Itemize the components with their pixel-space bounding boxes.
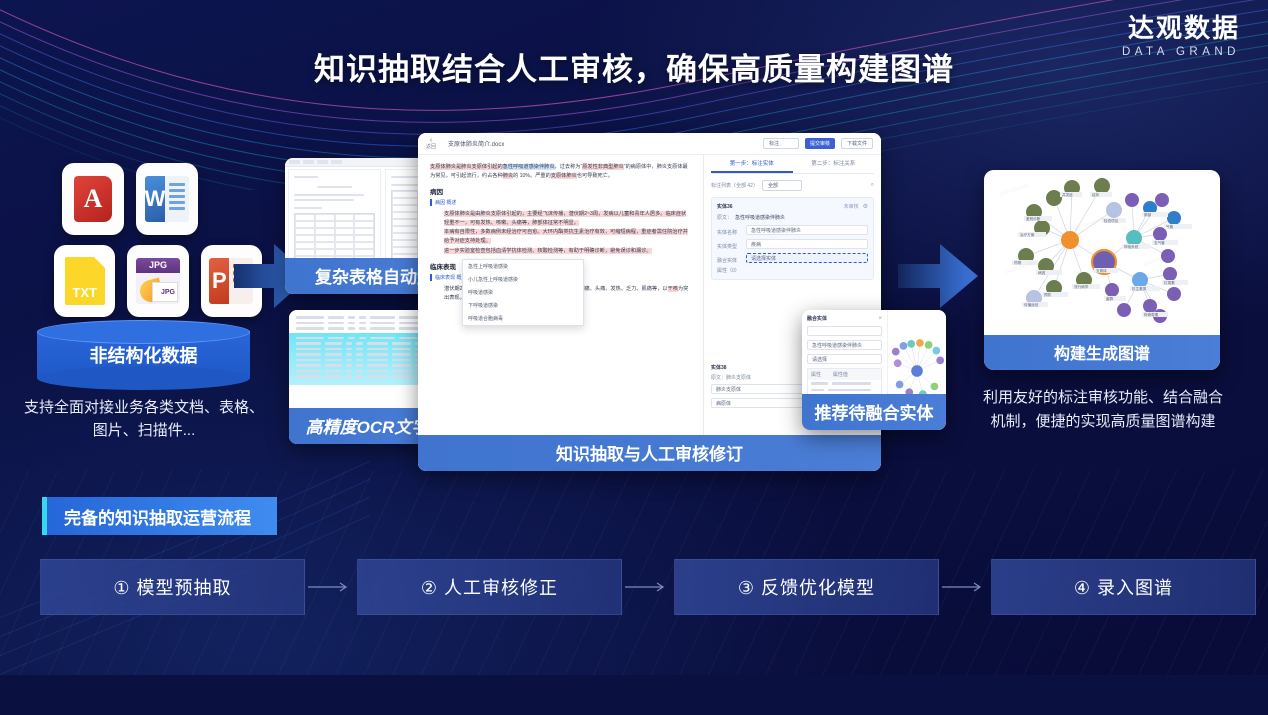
entity-card-status: 未审核 (844, 203, 859, 210)
brand-name-cn: 达观数据 (1122, 14, 1240, 43)
step-arrow-2 (622, 581, 674, 593)
flow-arrow-right (898, 236, 980, 316)
entity-type-select[interactable]: 疾病 (746, 239, 868, 249)
pdf-file-icon: A (62, 163, 124, 235)
doc-paragraph-2: 支原体肺炎是由肺炎支原体引起的，主要经飞沫传播，潜伏期2~3周，发病以儿童和青年… (430, 210, 691, 228)
jpg-file-icon: JPG JPG (127, 245, 188, 317)
merge-entity-select[interactable]: 请选择实体 (746, 253, 868, 263)
pdf-glyph: A (74, 176, 112, 222)
tab-annotate-entity[interactable]: 第一步：标注实体 (711, 155, 793, 173)
svg-text:抗生素类: 抗生素类 (1132, 286, 1147, 291)
merge-field-3[interactable]: 请选择 (807, 354, 882, 364)
close-icon[interactable]: × (878, 316, 882, 322)
process-steps: ① 模型预抽取 ② 人工审核修正 ③ 反馈优化模型 ④ 录入图谱 (40, 559, 1230, 615)
cylinder-top (37, 320, 250, 344)
entity-card[interactable]: 实体36 未审核 ⚙ 原文： 急性呼吸道感染伴肺炎 实体名称 急性呼吸道感染伴肺… (711, 197, 874, 280)
merge-entity-card[interactable]: 融合实体 × 急性呼吸道感染伴肺炎 请选择 属性 属性值 1 › (802, 310, 946, 430)
txt-glyph: TXT (65, 257, 105, 305)
svg-text:并发症: 并发症 (1062, 192, 1073, 197)
doc-header: ‹ 返回 支原体肺炎简介.docx 标注 提交审核 下载文件 (418, 133, 881, 155)
merge-entity-label: 融合实体 (717, 257, 743, 264)
svg-text:传播途径: 传播途径 (1024, 302, 1039, 307)
merge-dialog-title: 融合实体 (807, 315, 827, 322)
dropdown-option[interactable]: 呼吸道合胞病毒 (463, 312, 583, 325)
entity-attributes-label: 属性（0） (717, 267, 740, 274)
file-icon-row-2: TXT JPG JPG P (54, 245, 262, 317)
file-type-icon-group: A W TXT JPG JPG P (62, 163, 262, 317)
svg-text:菌群: 菌群 (1106, 296, 1114, 301)
knowledge-graph-svg: 并发症 症状 检查项目 鉴别诊断 治疗方案 药物 病因 预防 流行病学 传播途径… (984, 170, 1220, 340)
annotation-list-header: 标注列表（全部 42） (711, 182, 758, 189)
doc-section-note: 病因 概述 (435, 199, 456, 206)
annotation-filter-select[interactable]: 全部 (762, 180, 802, 191)
doc-section-title-1: 病因 (430, 186, 691, 196)
source-description: 支持全面对接业务各类文档、表格、图片、扫描件... (24, 396, 264, 443)
merge-col-header: 属性值 (830, 369, 881, 380)
process-step-2[interactable]: ② 人工审核修正 (357, 559, 622, 615)
svg-text:肺部: 肺部 (1144, 212, 1152, 217)
merge-field-2[interactable]: 急性呼吸道感染伴肺炎 (807, 340, 882, 350)
process-step-3[interactable]: ③ 反馈优化模型 (674, 559, 939, 615)
process-step-label: ③ 反馈优化模型 (738, 574, 875, 600)
tab-annotate-relation[interactable]: 第二步：标注关系 (793, 155, 875, 173)
step-arrow-1 (305, 581, 357, 593)
entity-source-label: 原文： (717, 214, 732, 221)
process-step-4[interactable]: ④ 录入图谱 (991, 559, 1256, 615)
gear-icon[interactable]: ⚙ (863, 203, 868, 210)
dropdown-option[interactable]: 呼吸道感染 (463, 286, 583, 299)
process-tag-label: 完备的知识抽取运营流程 (64, 504, 251, 529)
doc-file-name: 支原体肺炎简介.docx (448, 139, 504, 148)
svg-text:症状: 症状 (1092, 192, 1100, 197)
cylinder-label: 非结构化数据 (37, 342, 250, 368)
svg-text:DATAGRAND: DATAGRAND (999, 183, 1030, 198)
ppt-glyph: P (209, 258, 229, 304)
submit-review-button[interactable]: 提交审核 (805, 138, 835, 149)
entity-type-label: 实体类型 (717, 243, 743, 250)
process-step-label: ① 模型预抽取 (113, 574, 231, 600)
graph-card[interactable]: 并发症 症状 检查项目 鉴别诊断 治疗方案 药物 病因 预防 流行病学 传播途径… (984, 170, 1220, 370)
merge-caption: 推荐待融合实体 (802, 394, 946, 430)
svg-text:红霉素: 红霉素 (1164, 280, 1175, 285)
svg-text:支气管: 支气管 (1154, 240, 1165, 245)
svg-text:DATAGRAND: DATAGRAND (1075, 217, 1106, 232)
entity-source-value: 急性呼吸道感染伴肺炎 (735, 214, 785, 221)
process-step-label: ④ 录入图谱 (1074, 574, 1173, 600)
extract-caption: 知识抽取与人工审核修订 (418, 435, 881, 471)
step-arrow-3 (939, 581, 991, 593)
word-file-icon: W (136, 163, 198, 235)
cylinder-bottom (37, 366, 250, 390)
search-icon[interactable]: ⌕ (871, 182, 874, 189)
unstructured-data-cylinder: 非结构化数据 (37, 320, 250, 388)
svg-text:呼吸系统: 呼吸系统 (1124, 244, 1139, 249)
entity-name-input[interactable]: 急性呼吸道感染伴肺炎 (746, 225, 868, 235)
process-step-label: ② 人工审核修正 (421, 574, 558, 600)
word-glyph: W (145, 176, 165, 222)
doc-paragraph-3: 本病有自限性，多数病例未经治疗可自愈。大环内酯类抗生素治疗有效，可缩短病程，重症… (430, 228, 691, 246)
svg-text:预防: 预防 (1044, 292, 1052, 297)
graph-description: 利用友好的标注审核功能、结合融合机制，便捷的实现高质量图谱构建 (978, 386, 1228, 434)
graph-caption: 构建生成图谱 (984, 335, 1220, 370)
mode-select[interactable]: 标注 (763, 138, 799, 149)
svg-text:阿奇霉素: 阿奇霉素 (1144, 312, 1159, 317)
entity-card-title: 实体36 (717, 203, 733, 210)
svg-text:气管: 气管 (1166, 224, 1174, 229)
doc-paragraph: 支原体肺炎是肺炎支原体引起的急性呼吸道感染伴肺炎，过去称为“原发性非典型肺炎”的… (430, 163, 691, 181)
process-step-1[interactable]: ① 模型预抽取 (40, 559, 305, 615)
word-lines (165, 176, 189, 222)
merge-col-header: 属性 (808, 369, 830, 380)
jpg-glyph: JPG (136, 258, 180, 273)
doc-paragraph-4: 进一步实验室检查包括血清学抗体检测、核酸检测等，有助于明确诊断，避免误诊和漏诊。 (430, 247, 691, 256)
download-file-button[interactable]: 下载文件 (841, 138, 873, 149)
annotation-tabs: 第一步：标注实体 第二步：标注关系 (711, 155, 874, 174)
txt-file-icon: TXT (54, 245, 115, 317)
dropdown-option[interactable]: 急性上呼吸道感染 (463, 260, 583, 273)
entity-name-label: 实体名称 (717, 229, 743, 236)
dropdown-option[interactable]: 下呼吸道感染 (463, 299, 583, 312)
merge-field-1[interactable] (807, 326, 882, 336)
svg-text:治疗方案: 治疗方案 (1020, 232, 1035, 237)
svg-text:鉴别诊断: 鉴别诊断 (1026, 216, 1041, 221)
dropdown-option[interactable]: 小儿急性上呼吸道感染 (463, 273, 583, 286)
svg-text:病因: 病因 (1038, 270, 1046, 275)
back-label[interactable]: 返回 (426, 145, 436, 151)
merge-entity-dropdown[interactable]: 急性上呼吸道感染 小儿急性上呼吸道感染 呼吸道感染 下呼吸道感染 呼吸道合胞病毒 (462, 259, 584, 326)
process-section-tag: 完备的知识抽取运营流程 (42, 497, 277, 535)
file-icon-row-1: A W (62, 163, 262, 235)
svg-text:流行病学: 流行病学 (1074, 284, 1089, 289)
svg-text:检查项目: 检查项目 (1104, 218, 1118, 223)
svg-text:支原体: 支原体 (1096, 268, 1107, 273)
page-title: 知识抽取结合人工审核，确保高质量构建图谱 (0, 44, 1268, 89)
jpg-preview-label: JPG (152, 282, 178, 302)
